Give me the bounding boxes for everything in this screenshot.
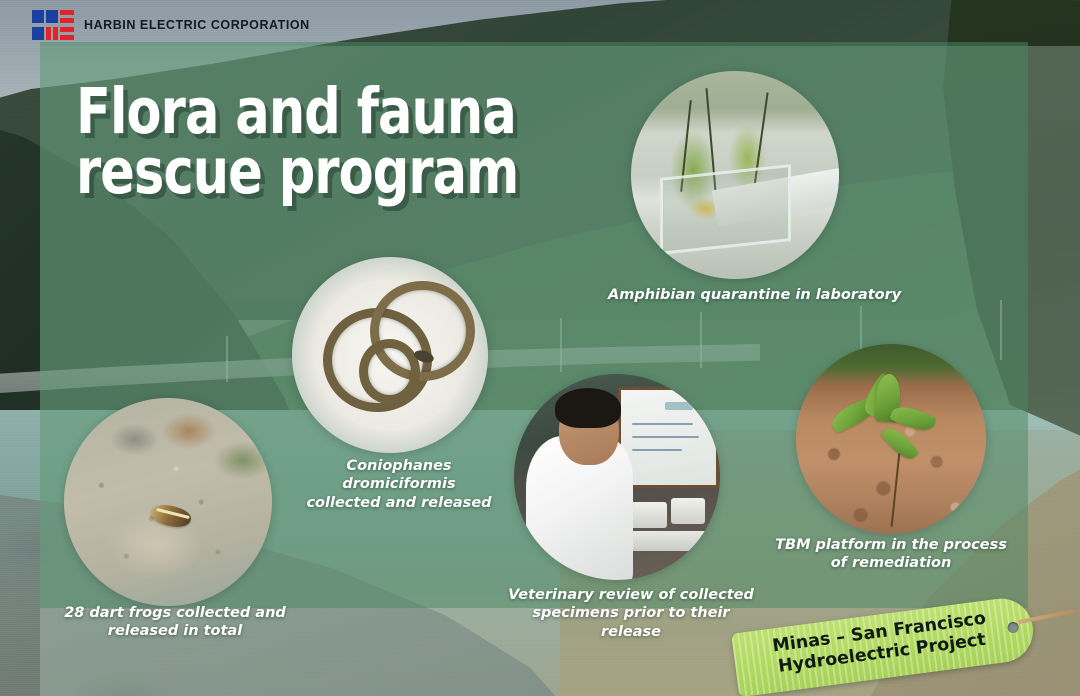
whiteboard-writing bbox=[632, 423, 693, 425]
photo-dart-frogs bbox=[64, 398, 272, 606]
whiteboard-writing bbox=[632, 436, 698, 438]
caption-snake-released: Coniophanes dromiciformis collected and … bbox=[294, 457, 504, 512]
tag-shape: Minas – San Francisco Hydroelectric Proj… bbox=[731, 595, 1037, 696]
gravel-texture bbox=[64, 398, 272, 606]
photo-veterinary-review bbox=[514, 374, 720, 580]
page-title: Flora and fauna rescue program bbox=[76, 82, 518, 202]
project-tag: Minas – San Francisco Hydroelectric Proj… bbox=[716, 596, 1080, 696]
whiteboard-writing bbox=[632, 449, 681, 451]
photo-amphibian-quarantine bbox=[631, 71, 839, 279]
brand-name: HARBIN ELECTRIC CORPORATION bbox=[84, 18, 310, 32]
snake-coil bbox=[359, 339, 420, 404]
specimen-container bbox=[671, 498, 705, 524]
photo-tbm-platform-remediation bbox=[796, 344, 986, 534]
caption-dart-frogs: 28 dart frogs collected and released in … bbox=[60, 604, 290, 641]
caption-tbm-platform: TBM platform in the process of remediati… bbox=[772, 536, 1010, 573]
glass-terrarium bbox=[660, 164, 791, 254]
specimen-container bbox=[629, 502, 667, 528]
harbin-electric-logo-icon bbox=[32, 10, 76, 40]
whiteboard bbox=[621, 390, 716, 485]
photo-snake-released bbox=[292, 257, 488, 453]
caption-amphibian-quarantine: Amphibian quarantine in laboratory bbox=[608, 286, 908, 304]
slide-header: HARBIN ELECTRIC CORPORATION bbox=[0, 0, 1080, 46]
whiteboard-writing bbox=[665, 402, 693, 410]
veterinarian-hair bbox=[555, 388, 621, 428]
presentation-slide: HARBIN ELECTRIC CORPORATION Flora and fa… bbox=[0, 0, 1080, 696]
